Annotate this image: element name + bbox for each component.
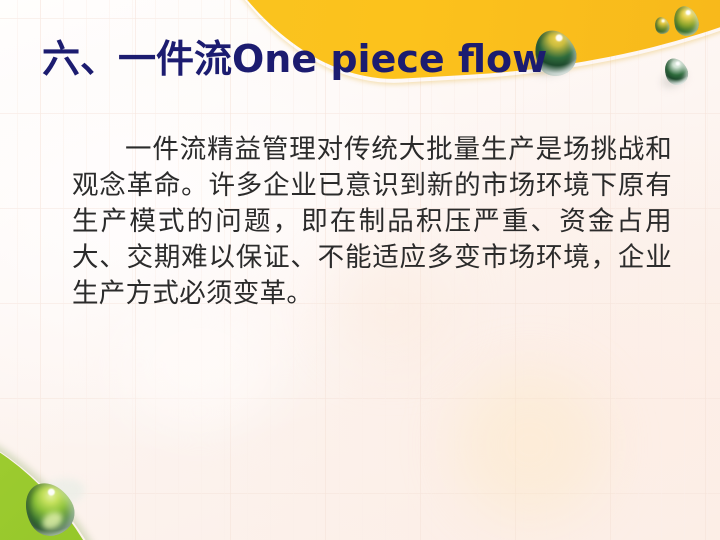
presentation-slide: 六、一件流One piece flow 一件流精益管理对传统大批量生产是场挑战和… bbox=[0, 0, 720, 540]
slide-title: 六、一件流One piece flow bbox=[42, 38, 547, 82]
slide-body-paragraph: 一件流精益管理对传统大批量生产是场挑战和观念革命。许多企业已意识到新的市场环境下… bbox=[72, 132, 672, 312]
